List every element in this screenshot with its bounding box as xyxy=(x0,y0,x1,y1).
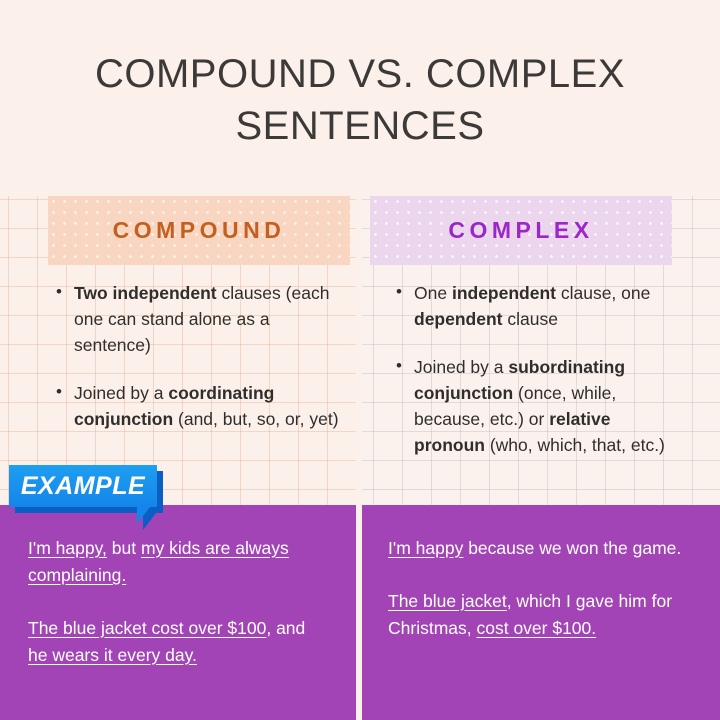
example-sentence: The blue jacket cost over $100, and he w… xyxy=(28,615,328,669)
infographic-root: COMPOUND VS. COMPLEX SENTENCES COMPOUND … xyxy=(0,0,720,720)
column-header-complex: COMPLEX xyxy=(370,196,672,265)
column-header-compound: COMPOUND xyxy=(48,196,350,265)
example-text-complex: I'm happy because we won the game.The bl… xyxy=(362,535,720,668)
example-sentence: I'm happy, but my kids are always compla… xyxy=(28,535,328,589)
example-banner: EXAMPLE xyxy=(9,465,157,507)
list-item: One independent clause, one dependent cl… xyxy=(394,280,679,332)
column-header-complex-label: COMPLEX xyxy=(448,219,593,242)
page-title: COMPOUND VS. COMPLEX SENTENCES xyxy=(0,48,720,152)
example-text-compound: I'm happy, but my kids are always compla… xyxy=(0,535,356,695)
bullet-list-complex: One independent clause, one dependent cl… xyxy=(394,280,679,480)
bullet-list-compound: Two independent clauses (each one can st… xyxy=(54,280,344,454)
list-item: Joined by a subordinating conjunction (o… xyxy=(394,354,679,458)
example-sentence: The blue jacket, which I gave him for Ch… xyxy=(388,588,694,642)
example-panel-complex: I'm happy because we won the game.The bl… xyxy=(362,505,720,720)
list-item: Two independent clauses (each one can st… xyxy=(54,280,344,358)
title-line-2: SENTENCES xyxy=(0,100,720,152)
example-panel-compound: I'm happy, but my kids are always compla… xyxy=(0,505,356,720)
title-line-1: COMPOUND VS. COMPLEX xyxy=(0,48,720,100)
example-banner-face: EXAMPLE xyxy=(9,465,157,507)
example-sentence: I'm happy because we won the game. xyxy=(388,535,694,562)
list-item: Joined by a coordinating conjunction (an… xyxy=(54,380,344,432)
column-header-compound-label: COMPOUND xyxy=(113,219,286,242)
example-banner-label: EXAMPLE xyxy=(21,474,145,499)
